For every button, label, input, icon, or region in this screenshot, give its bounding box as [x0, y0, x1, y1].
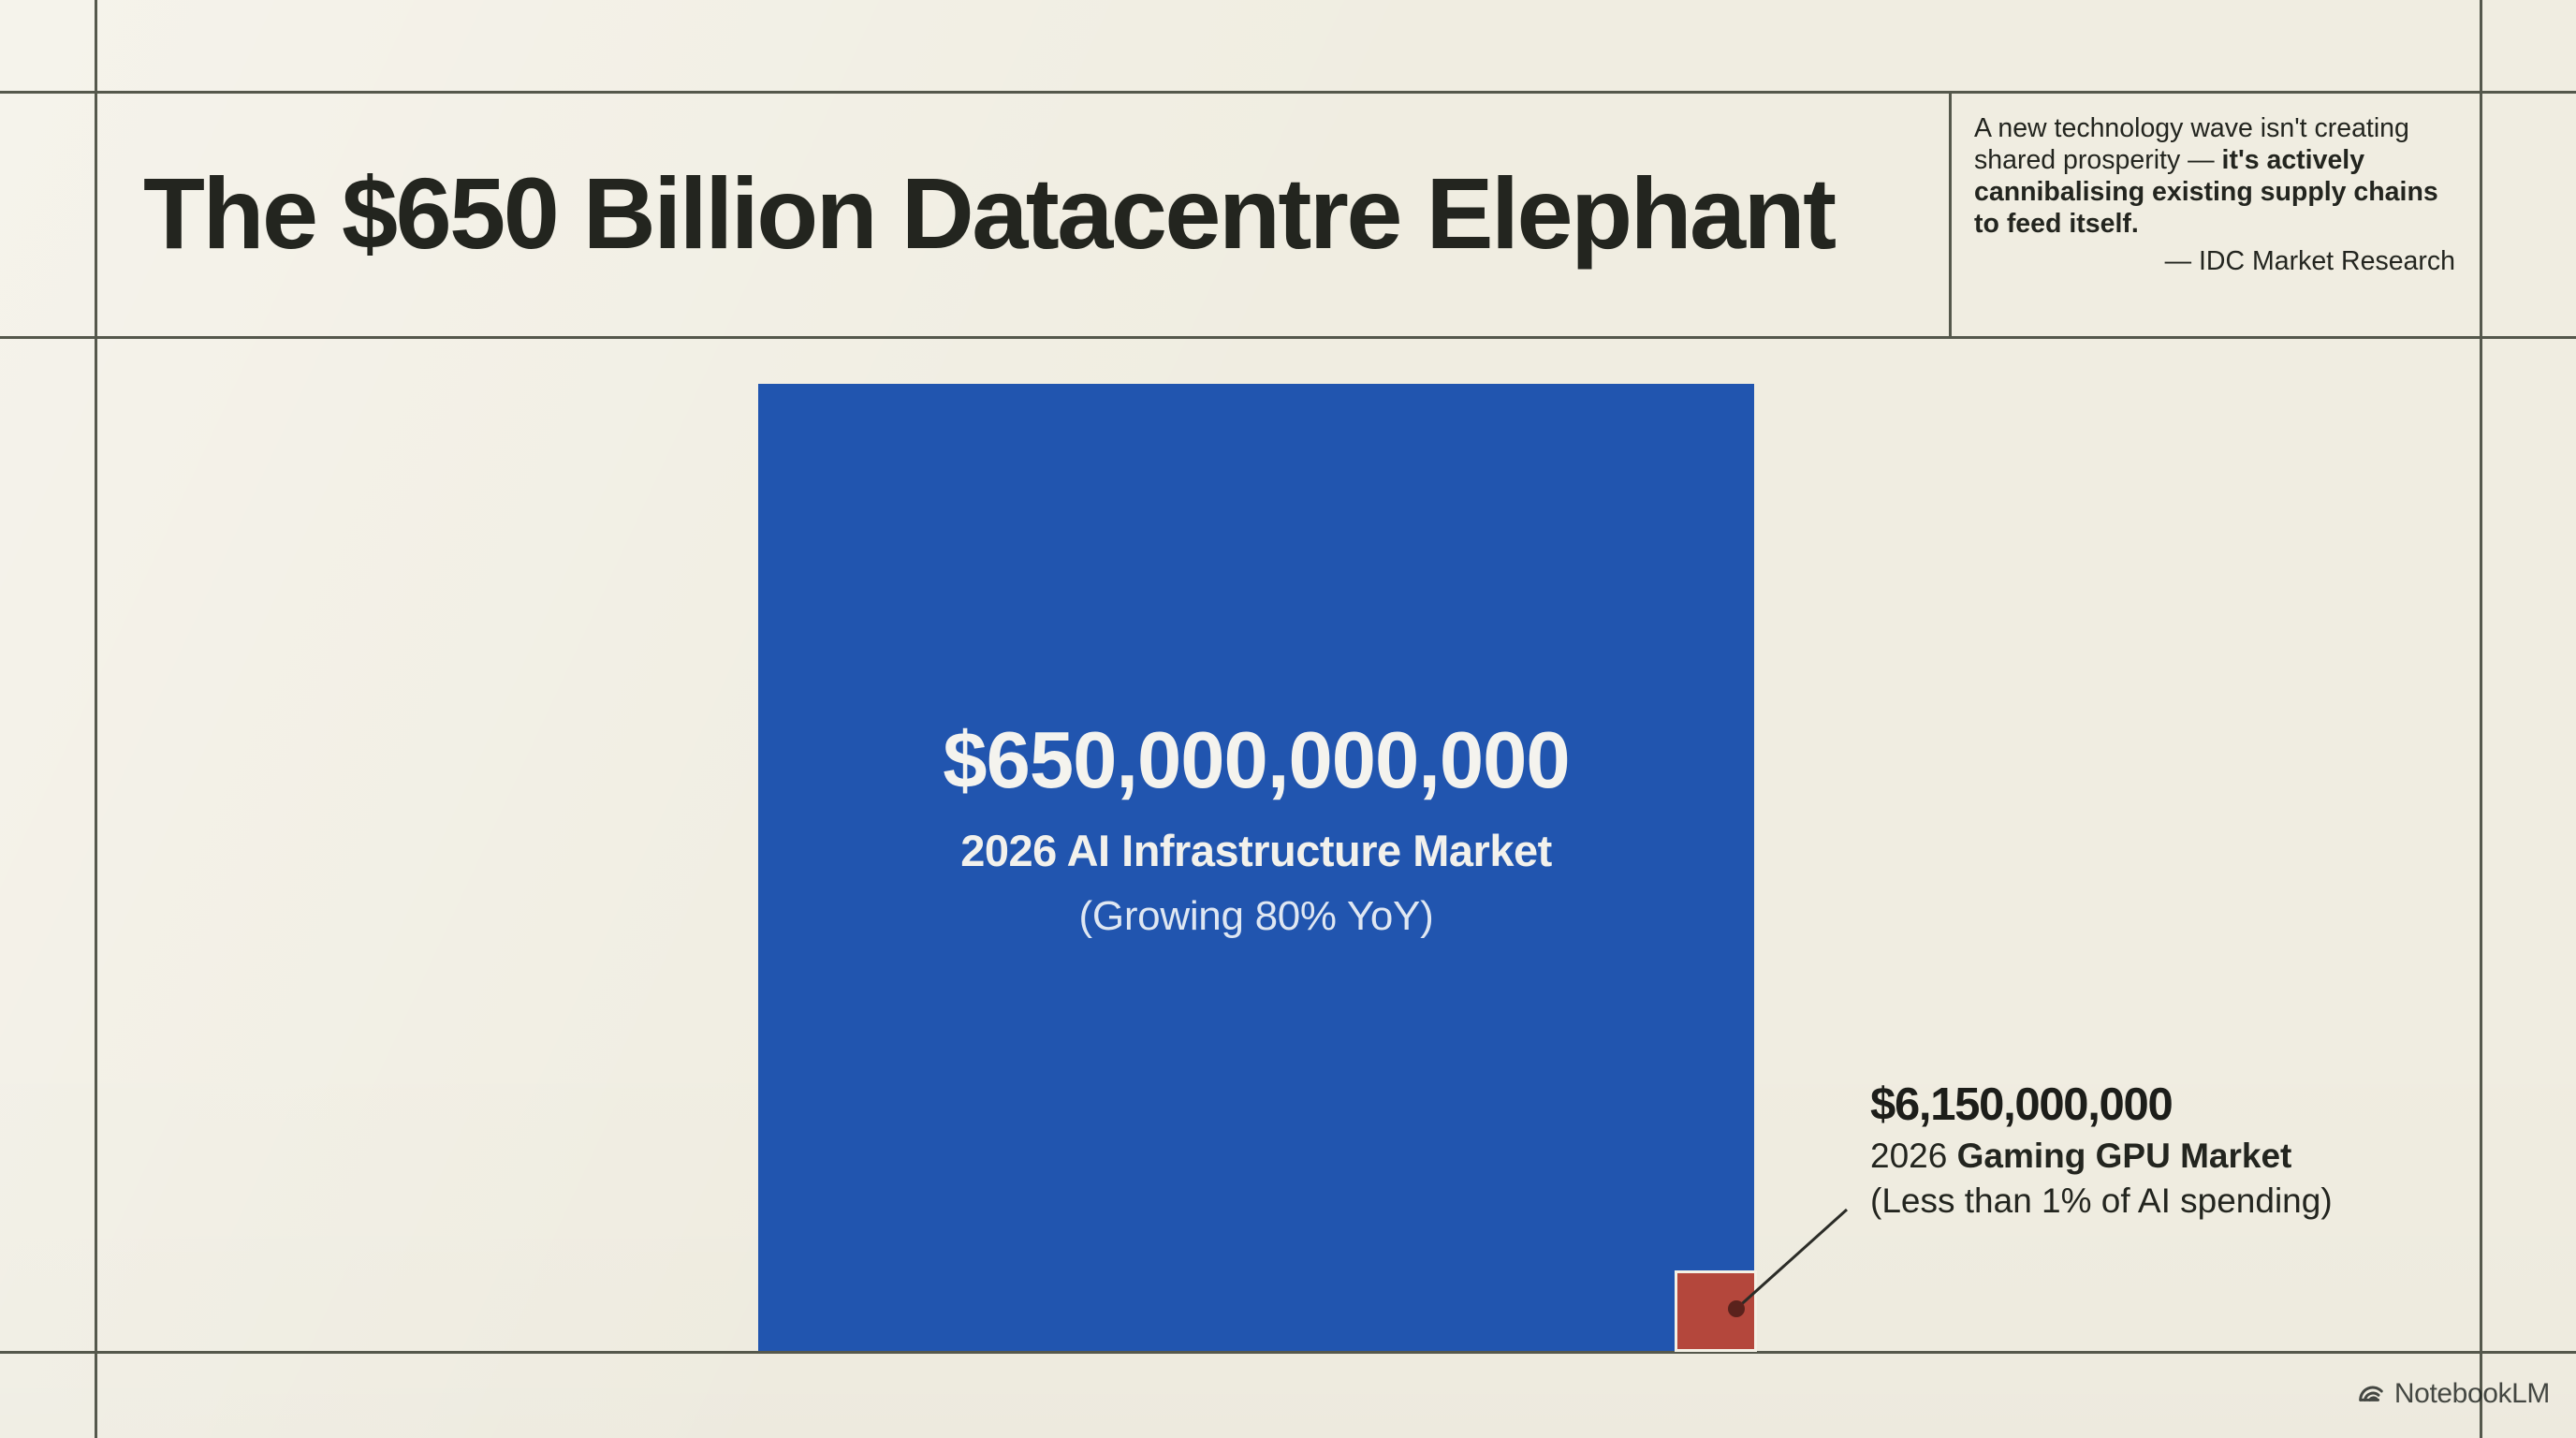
gpu-market-value: $6,150,000,000: [1870, 1081, 2469, 1129]
slide-canvas: The $650 Billion Datacentre Elephant A n…: [0, 0, 2576, 1438]
title-cell: The $650 Billion Datacentre Elephant: [95, 91, 1949, 336]
ai-market-growth-note: (Growing 80% YoY): [1079, 893, 1434, 940]
gpu-market-label: 2026 Gaming GPU Market: [1870, 1137, 2469, 1175]
quote-text: A new technology wave isn't creating sha…: [1974, 113, 2455, 241]
page-title: The $650 Billion Datacentre Elephant: [95, 163, 1835, 264]
quote-attribution: — IDC Market Research: [1974, 246, 2455, 278]
gpu-market-label-year: 2026: [1870, 1137, 1957, 1175]
grid-rule-vertical-right: [2480, 0, 2482, 1438]
ai-market-label: 2026 AI Infrastructure Market: [960, 825, 1552, 876]
notebooklm-spiral-icon: [2357, 1377, 2385, 1410]
notebooklm-watermark: NotebookLM: [2357, 1377, 2550, 1410]
quote-cell: A new technology wave isn't creating sha…: [1952, 91, 2480, 336]
gpu-market-share-note: (Less than 1% of AI spending): [1870, 1181, 2469, 1220]
gaming-gpu-annotation: $6,150,000,000 2026 Gaming GPU Market (L…: [1870, 1081, 2469, 1220]
annotation-leader-line: [1713, 1189, 1881, 1339]
ai-infrastructure-market-square: $650,000,000,000 2026 AI Infrastructure …: [758, 384, 1754, 1351]
grid-rule-horizontal-bottom: [0, 1351, 2576, 1354]
grid-rule-horizontal-middle: [0, 336, 2576, 339]
gpu-market-label-emphasis: Gaming GPU Market: [1957, 1137, 2292, 1175]
notebooklm-label: NotebookLM: [2394, 1378, 2550, 1410]
ai-market-value: $650,000,000,000: [943, 721, 1569, 802]
header-band: The $650 Billion Datacentre Elephant A n…: [95, 91, 2480, 336]
